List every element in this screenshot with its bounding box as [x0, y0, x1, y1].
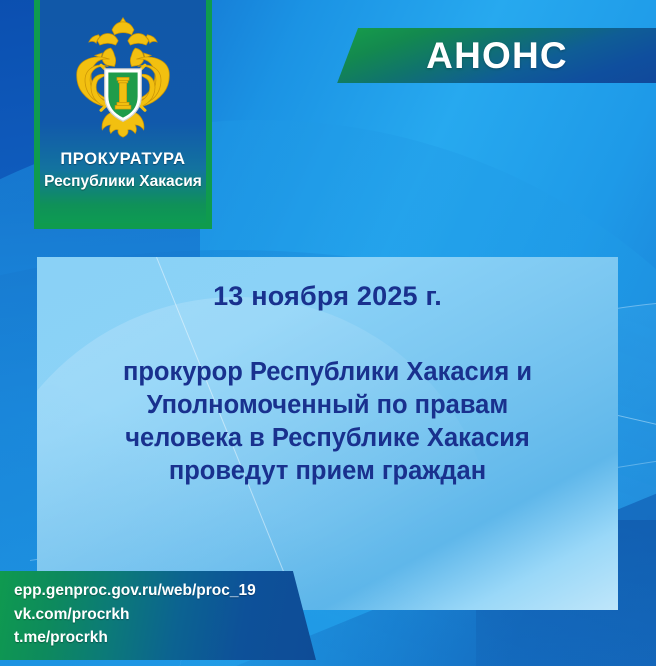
footer-link-telegram[interactable]: t.me/procrkh	[14, 626, 316, 650]
announcement-banner-label: АНОНС	[426, 35, 568, 77]
panel-subtitle: Республики Хакасия	[44, 173, 202, 191]
announcement-date: 13 ноября 2025 г.	[37, 281, 618, 312]
announcement-body: прокурор Республики Хакасия и Уполномоче…	[37, 356, 618, 489]
announcement-body-line: Уполномоченный по правам	[55, 389, 600, 422]
footer-link-vk[interactable]: vk.com/procrkh	[14, 603, 316, 627]
announcement-banner: АНОНС	[330, 28, 656, 83]
prosecutor-emblem-panel: ПРОКУРАТУРА Республики Хакасия	[34, 0, 212, 229]
double-headed-eagle-icon	[62, 14, 184, 142]
footer-link-website[interactable]: epp.genproc.gov.ru/web/proc_19	[14, 579, 316, 603]
footer-links-banner: epp.genproc.gov.ru/web/proc_19 vk.com/pr…	[0, 571, 316, 660]
announcement-poster: ПРОКУРАТУРА Республики Хакасия АНОНС 13 …	[0, 0, 656, 666]
announcement-body-line: проведут прием граждан	[55, 455, 600, 488]
announcement-body-line: человека в Республике Хакасия	[55, 422, 600, 455]
announcement-body-line: прокурор Республики Хакасия и	[55, 356, 600, 389]
panel-title: ПРОКУРАТУРА	[60, 150, 185, 169]
announcement-content-box: 13 ноября 2025 г. прокурор Республики Ха…	[37, 257, 618, 610]
